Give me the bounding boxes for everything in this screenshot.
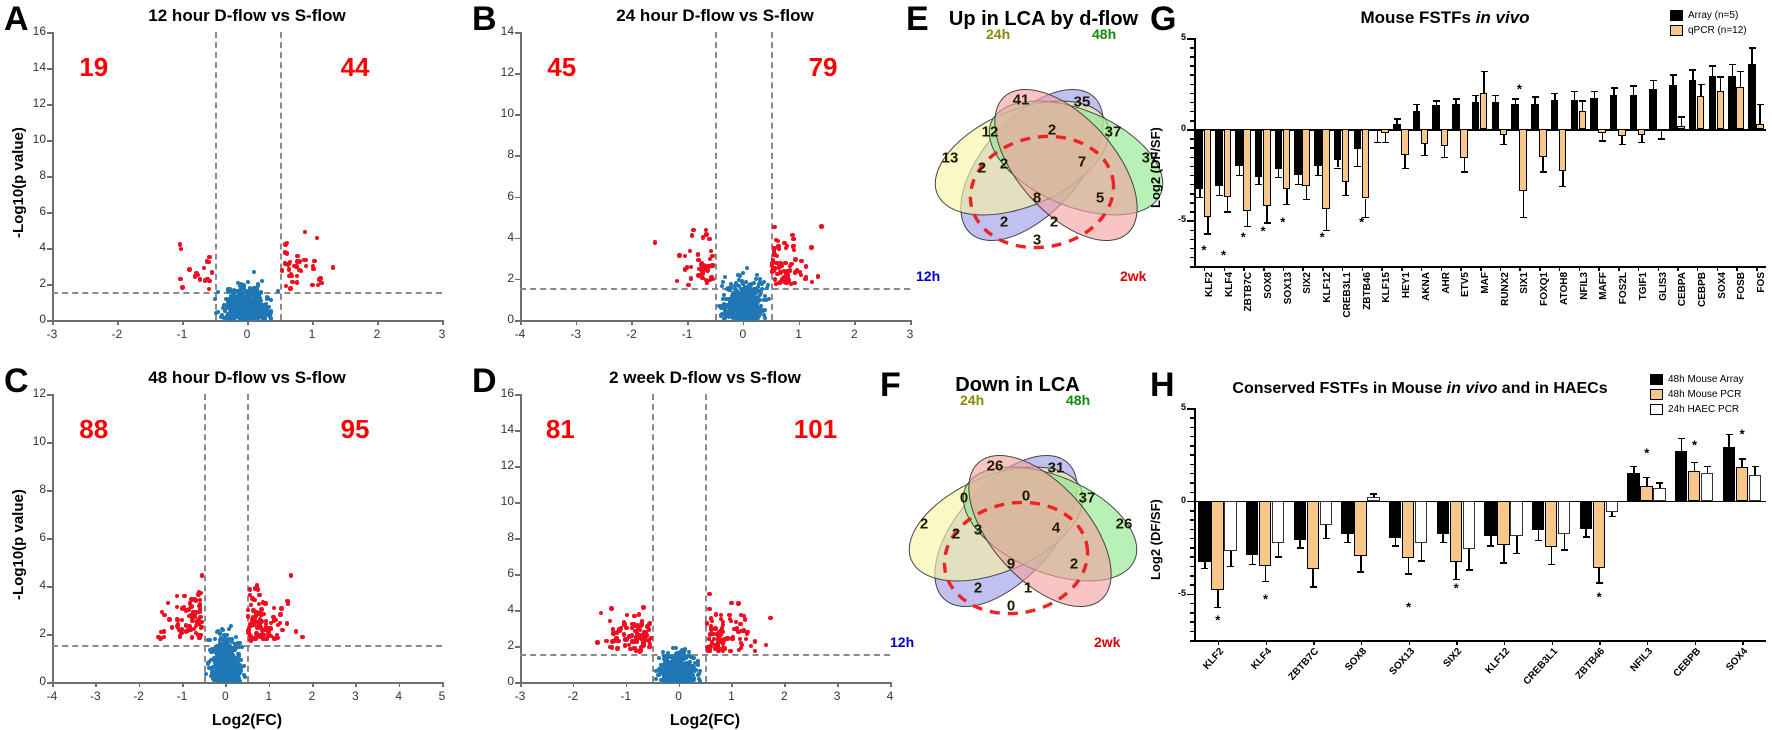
x-tick bbox=[1401, 266, 1403, 271]
p-threshold-line bbox=[520, 288, 910, 290]
x-tick bbox=[139, 682, 141, 687]
figure-root: A12 hour D-flow vs S-flow-3-2-1012302468… bbox=[0, 0, 1772, 730]
x-tick bbox=[1361, 640, 1363, 645]
data-point-significant bbox=[297, 259, 301, 263]
significance-asterisk: * bbox=[1454, 582, 1459, 595]
error-bar-cap bbox=[1709, 65, 1716, 67]
data-point-significant bbox=[278, 612, 282, 616]
error-bar bbox=[1365, 199, 1367, 217]
error-bar bbox=[1252, 555, 1254, 564]
x-tick-label: 1 bbox=[715, 689, 747, 703]
x-tick bbox=[1677, 266, 1679, 271]
right-count-label: 95 bbox=[341, 414, 370, 445]
gene-label-zbtb46: ZBTB46 bbox=[1574, 646, 1607, 681]
x-tick bbox=[799, 320, 801, 325]
error-bar-cap bbox=[1500, 562, 1507, 564]
x-tick bbox=[442, 320, 444, 325]
error-bar-cap bbox=[1402, 168, 1409, 170]
error-bar bbox=[1286, 189, 1288, 204]
y-axis-line bbox=[1194, 408, 1196, 640]
data-point-significant bbox=[689, 276, 693, 280]
data-point-significant bbox=[719, 613, 723, 617]
bar-atoh8-1 bbox=[1559, 129, 1566, 171]
venn-count-12h_2wk: 0 bbox=[1007, 598, 1015, 615]
error-bar-cap bbox=[1500, 144, 1507, 146]
y-tick-label: 12 bbox=[486, 65, 514, 79]
error-bar bbox=[1442, 534, 1444, 541]
data-point-significant bbox=[792, 281, 796, 285]
bar-zbtb7c-1 bbox=[1307, 501, 1319, 570]
data-point-significant bbox=[707, 607, 711, 611]
data-point-significant bbox=[207, 287, 211, 291]
data-point-significant bbox=[791, 237, 795, 241]
data-point-significant bbox=[252, 598, 256, 602]
y-tick bbox=[47, 68, 52, 70]
data-point-significant bbox=[723, 646, 727, 650]
error-bar-cap bbox=[1466, 569, 1473, 571]
data-point-significant bbox=[643, 637, 647, 641]
data-point-nonsignificant bbox=[269, 298, 273, 302]
data-point-nonsignificant bbox=[226, 287, 230, 291]
bar-klf12-1 bbox=[1497, 501, 1509, 546]
data-point-significant bbox=[770, 263, 774, 267]
error-bar-cap bbox=[1481, 71, 1488, 73]
error-bar-cap bbox=[1370, 493, 1377, 495]
error-bar bbox=[1542, 157, 1544, 172]
data-point-significant bbox=[744, 637, 748, 641]
y-tick-label: 4 bbox=[486, 602, 514, 616]
error-bar-cap bbox=[1656, 482, 1663, 484]
x-tick bbox=[1742, 640, 1744, 645]
y-tick bbox=[515, 279, 520, 281]
error-bar-cap bbox=[1532, 96, 1539, 98]
data-point-significant bbox=[279, 606, 283, 610]
bar-cebpb-0 bbox=[1689, 80, 1696, 129]
bar-six2-0 bbox=[1294, 129, 1301, 175]
data-point-nonsignificant bbox=[256, 284, 260, 288]
volcano-plot-area: -4-3-2-10123024681012144579 bbox=[520, 32, 910, 320]
y-tick bbox=[47, 538, 52, 540]
error-bar bbox=[1227, 197, 1229, 212]
error-bar-cap bbox=[1310, 586, 1317, 588]
data-point-significant bbox=[743, 617, 747, 621]
data-point-significant bbox=[753, 649, 757, 653]
bar-six1-1 bbox=[1519, 129, 1526, 191]
gene-label-atoh8: ATOH8 bbox=[1559, 272, 1570, 305]
error-bar bbox=[1468, 549, 1470, 569]
data-point-significant bbox=[247, 627, 251, 631]
error-bar bbox=[1298, 175, 1300, 184]
data-point-significant bbox=[709, 249, 713, 253]
y-axis-label: Log2 (DF/SF) bbox=[1148, 499, 1163, 580]
venn-title: Down in LCA bbox=[880, 374, 1155, 397]
venn-count-12h_48h_2wk: 2 bbox=[1000, 214, 1008, 231]
error-bar-cap bbox=[1315, 175, 1322, 177]
data-point-significant bbox=[175, 594, 179, 598]
y-tick-label: 2 bbox=[486, 638, 514, 652]
legend-label-2: 24h HAEC PCR bbox=[1668, 404, 1739, 415]
y-tick bbox=[515, 155, 520, 157]
venn-set-label-12h: 12h bbox=[890, 634, 914, 650]
x-axis-line bbox=[520, 682, 890, 684]
bar-nfil3-1 bbox=[1640, 486, 1652, 501]
data-point-significant bbox=[609, 606, 613, 610]
x-tick-label: 4 bbox=[383, 689, 415, 703]
bar-klf12-1 bbox=[1322, 129, 1329, 209]
data-point-nonsignificant bbox=[220, 313, 224, 317]
x-tick-label: 3 bbox=[821, 689, 853, 703]
error-bar-cap bbox=[1599, 140, 1606, 142]
data-point-nonsignificant bbox=[741, 298, 745, 302]
gene-label-tgif1: TGIF1 bbox=[1638, 272, 1649, 300]
significance-asterisk: * bbox=[1263, 593, 1268, 606]
x-tick bbox=[1618, 266, 1620, 271]
x-tick-label: -3 bbox=[504, 689, 536, 703]
data-point-significant bbox=[198, 635, 202, 639]
x-tick-label: 3 bbox=[339, 689, 371, 703]
bar-zbtb7c-1 bbox=[1243, 129, 1250, 211]
error-bar bbox=[1345, 182, 1347, 195]
data-point-nonsignificant bbox=[230, 665, 234, 669]
error-bar bbox=[1490, 536, 1492, 545]
data-point-nonsignificant bbox=[666, 677, 670, 681]
bar-creb3l1-2 bbox=[1558, 501, 1570, 534]
x-tick bbox=[312, 320, 314, 325]
data-point-significant bbox=[777, 246, 781, 250]
y-tick-label: -5 bbox=[1164, 588, 1186, 598]
gene-label-klf15: KLF15 bbox=[1381, 272, 1392, 303]
data-point-significant bbox=[189, 604, 193, 608]
data-point-significant bbox=[180, 618, 184, 622]
data-point-significant bbox=[641, 605, 645, 609]
right-count-label: 79 bbox=[809, 52, 838, 83]
data-point-significant bbox=[599, 611, 603, 615]
bar-glis3-0 bbox=[1649, 89, 1656, 129]
gene-label-foxq1: FOXQ1 bbox=[1539, 272, 1550, 306]
error-bar-cap bbox=[1749, 47, 1756, 49]
data-point-nonsignificant bbox=[760, 309, 764, 313]
y-tick-minor bbox=[1190, 575, 1194, 577]
error-bar bbox=[1265, 566, 1267, 581]
bar-sox4-2 bbox=[1749, 475, 1761, 501]
venn-count-48h_only: 35 bbox=[1074, 94, 1091, 111]
data-point-nonsignificant bbox=[683, 647, 687, 651]
data-point-nonsignificant bbox=[216, 662, 220, 666]
error-bar-cap bbox=[1255, 184, 1262, 186]
data-point-significant bbox=[707, 592, 711, 596]
bar-plot-area: 50-5******** bbox=[1194, 38, 1766, 266]
data-point-significant bbox=[283, 250, 287, 254]
bar-klf4-1 bbox=[1259, 501, 1271, 566]
data-point-significant bbox=[622, 632, 626, 636]
y-axis-line bbox=[520, 32, 522, 320]
data-point-significant bbox=[256, 587, 260, 591]
right-count-label: 44 bbox=[341, 52, 370, 83]
gene-label-cebpb: CEBPB bbox=[1697, 272, 1708, 307]
bar-cebpb-2 bbox=[1701, 473, 1713, 501]
data-point-significant bbox=[272, 606, 276, 610]
y-tick-major bbox=[1187, 220, 1194, 222]
error-bar bbox=[1278, 543, 1280, 556]
x-tick bbox=[182, 682, 184, 687]
plot-title: 12 hour D-flow vs S-flow bbox=[52, 6, 442, 26]
y-tick-minor bbox=[1190, 248, 1194, 250]
bar-zbtb46-1 bbox=[1362, 129, 1369, 198]
data-point-significant bbox=[202, 266, 206, 270]
data-point-significant bbox=[190, 635, 194, 639]
bar-zbtb7c-2 bbox=[1320, 501, 1332, 525]
x-tick bbox=[1313, 640, 1315, 645]
bar-foxq1-1 bbox=[1539, 129, 1546, 156]
x-tick bbox=[1224, 266, 1226, 271]
data-point-significant bbox=[260, 627, 264, 631]
error-bar bbox=[1444, 146, 1446, 157]
data-point-nonsignificant bbox=[213, 297, 217, 301]
error-bar-cap bbox=[1392, 545, 1399, 547]
y-tick-minor bbox=[1190, 111, 1194, 113]
error-bar bbox=[1217, 590, 1219, 607]
fc-threshold-line bbox=[280, 32, 282, 320]
data-point-nonsignificant bbox=[755, 306, 759, 310]
bar-zbtb46-2 bbox=[1606, 501, 1618, 512]
data-point-nonsignificant bbox=[241, 307, 245, 311]
y-tick-label: 8 bbox=[486, 530, 514, 544]
left-count-label: 81 bbox=[546, 414, 575, 445]
error-bar bbox=[1258, 177, 1260, 184]
error-bar-cap bbox=[1297, 547, 1304, 549]
error-bar-cap bbox=[1201, 568, 1208, 570]
x-tick bbox=[1697, 266, 1699, 271]
data-point-nonsignificant bbox=[696, 659, 700, 663]
x-tick-label: 0 bbox=[209, 689, 241, 703]
y-tick-label: 14 bbox=[486, 422, 514, 436]
data-point-significant bbox=[729, 601, 733, 605]
data-point-nonsignificant bbox=[234, 635, 238, 639]
error-bar bbox=[1523, 191, 1525, 217]
y-tick-label: 0 bbox=[486, 312, 514, 326]
bar-maff-0 bbox=[1590, 98, 1597, 129]
error-bar bbox=[1503, 135, 1505, 144]
panel-d: D2 week D-flow vs S-flow-3-2-10123402468… bbox=[472, 368, 902, 720]
data-point-significant bbox=[198, 277, 202, 281]
data-point-significant bbox=[708, 644, 712, 648]
data-point-significant bbox=[714, 612, 718, 616]
data-point-nonsignificant bbox=[246, 280, 250, 284]
data-point-significant bbox=[700, 271, 704, 275]
y-tick-major bbox=[1187, 38, 1194, 40]
panel-a: A12 hour D-flow vs S-flow-3-2-1012302468… bbox=[4, 6, 464, 356]
data-point-nonsignificant bbox=[721, 280, 725, 284]
bar-sox8-1 bbox=[1263, 129, 1270, 206]
data-point-significant bbox=[809, 245, 813, 249]
bar-klf2-2 bbox=[1224, 501, 1236, 551]
y-tick-minor bbox=[1190, 621, 1194, 623]
data-point-significant bbox=[280, 268, 284, 272]
y-tick bbox=[515, 197, 520, 199]
error-bar bbox=[1602, 133, 1604, 140]
chart-title-text: Mouse FSTFs bbox=[1360, 8, 1475, 27]
data-point-significant bbox=[608, 619, 612, 623]
bar-akna-0 bbox=[1413, 111, 1420, 129]
error-bar-cap bbox=[1418, 560, 1425, 562]
error-bar-cap bbox=[1571, 91, 1578, 93]
x-axis-label: Log2(FC) bbox=[52, 712, 442, 730]
x-tick-label: -1 bbox=[610, 689, 642, 703]
right-count-label: 101 bbox=[794, 414, 837, 445]
significance-asterisk: * bbox=[1280, 216, 1285, 229]
plot-title: 24 hour D-flow vs S-flow bbox=[520, 6, 910, 26]
data-point-significant bbox=[773, 277, 777, 281]
error-bar-cap bbox=[1670, 74, 1677, 76]
error-bar bbox=[1641, 135, 1643, 142]
bar-sox13-1 bbox=[1402, 501, 1414, 559]
data-point-significant bbox=[677, 253, 681, 257]
data-point-nonsignificant bbox=[760, 287, 764, 291]
venn-count-48h_2wk: 37 bbox=[1079, 490, 1096, 507]
bar-fos2l-1 bbox=[1618, 129, 1625, 136]
y-tick-minor bbox=[1190, 120, 1194, 122]
data-point-significant bbox=[295, 254, 299, 258]
data-point-nonsignificant bbox=[210, 650, 214, 654]
y-tick bbox=[47, 320, 52, 322]
error-bar bbox=[1728, 434, 1730, 447]
gene-label-sox13: SOX13 bbox=[1283, 272, 1294, 304]
bar-hey1-1 bbox=[1401, 129, 1408, 155]
error-bar-cap bbox=[1204, 233, 1211, 235]
data-point-significant bbox=[178, 634, 182, 638]
bar-klf4-2 bbox=[1272, 501, 1284, 544]
data-point-significant bbox=[317, 277, 321, 281]
venn-count-24h_48h_2wk: 4 bbox=[1052, 520, 1060, 537]
bar-six2-1 bbox=[1302, 129, 1309, 186]
gene-label-ahr: AHR bbox=[1441, 272, 1452, 294]
data-point-significant bbox=[184, 629, 188, 633]
y-tick bbox=[47, 634, 52, 636]
bar-nfil3-2 bbox=[1653, 488, 1665, 501]
x-tick-label: 1 bbox=[783, 327, 815, 341]
data-point-significant bbox=[799, 259, 803, 263]
data-point-significant bbox=[207, 255, 211, 259]
gene-label-creb3l1: CREB3L1 bbox=[1521, 646, 1560, 687]
x-tick bbox=[687, 320, 689, 325]
bar-ahr-1 bbox=[1441, 129, 1448, 145]
data-point-significant bbox=[645, 624, 649, 628]
legend-label-0: 48h Mouse Array bbox=[1668, 374, 1744, 385]
data-point-significant bbox=[728, 617, 732, 621]
panel-h: HConserved FSTFs in Mouse in vivo and in… bbox=[1150, 368, 1772, 730]
bar-cebpb-1 bbox=[1697, 96, 1704, 129]
bar-creb3l1-0 bbox=[1532, 501, 1544, 531]
error-bar-cap bbox=[1551, 93, 1558, 95]
data-point-nonsignificant bbox=[674, 646, 678, 650]
data-point-significant bbox=[709, 616, 713, 620]
data-point-significant bbox=[159, 630, 163, 634]
significance-asterisk: * bbox=[1644, 446, 1649, 459]
x-tick bbox=[442, 682, 444, 687]
error-bar bbox=[1732, 64, 1734, 77]
error-bar bbox=[1299, 540, 1301, 547]
data-point-significant bbox=[608, 645, 612, 649]
y-tick bbox=[515, 114, 520, 116]
venn-count-12h_48h: 2 bbox=[952, 526, 960, 543]
venn-count-24h_48h_2wk: 7 bbox=[1078, 154, 1086, 171]
data-point-significant bbox=[295, 280, 299, 284]
data-point-significant bbox=[198, 608, 202, 612]
x-tick bbox=[1322, 266, 1324, 271]
data-point-significant bbox=[303, 230, 307, 234]
venn-count-48h_2wk_inner: 2 bbox=[1070, 556, 1078, 573]
error-bar-cap bbox=[1453, 98, 1460, 100]
data-point-significant bbox=[175, 617, 179, 621]
y-tick-minor bbox=[1190, 492, 1194, 494]
data-point-significant bbox=[789, 282, 793, 286]
x-tick bbox=[520, 320, 522, 325]
y-tick-minor bbox=[1190, 175, 1194, 177]
error-bar-cap bbox=[1643, 477, 1650, 479]
y-axis-line bbox=[52, 32, 54, 320]
data-point-nonsignificant bbox=[723, 275, 727, 279]
data-point-significant bbox=[253, 637, 257, 641]
x-tick bbox=[1243, 266, 1245, 271]
bar-klf4-0 bbox=[1246, 501, 1258, 555]
y-tick-minor bbox=[1190, 47, 1194, 49]
data-point-significant bbox=[289, 573, 293, 577]
significance-asterisk: * bbox=[1692, 439, 1697, 452]
y-tick-minor bbox=[1190, 482, 1194, 484]
data-point-significant bbox=[737, 648, 741, 652]
y-tick-minor bbox=[1190, 184, 1194, 186]
data-point-nonsignificant bbox=[252, 270, 256, 274]
bar-klf2-0 bbox=[1198, 501, 1210, 562]
data-point-significant bbox=[610, 639, 614, 643]
y-tick-label: 0 bbox=[1164, 123, 1186, 133]
data-point-significant bbox=[182, 594, 186, 598]
bar-klf2-1 bbox=[1204, 129, 1211, 217]
chart-title-italic: in vivo bbox=[1476, 8, 1530, 27]
y-tick-major bbox=[1187, 501, 1194, 503]
y-tick-label: 12 bbox=[486, 458, 514, 472]
x-tick bbox=[837, 682, 839, 687]
data-point-significant bbox=[774, 261, 778, 265]
error-bar bbox=[1357, 149, 1359, 165]
error-bar-cap bbox=[1487, 545, 1494, 547]
data-point-significant bbox=[595, 640, 599, 644]
gene-label-cebpb: CEBPB bbox=[1671, 646, 1703, 679]
y-axis-line bbox=[52, 394, 54, 682]
data-point-significant bbox=[268, 626, 272, 630]
significance-asterisk: * bbox=[1320, 230, 1325, 243]
data-point-significant bbox=[736, 601, 740, 605]
data-point-significant bbox=[248, 587, 252, 591]
data-point-significant bbox=[285, 599, 289, 603]
error-bar-cap bbox=[1405, 573, 1412, 575]
y-tick-minor bbox=[1190, 612, 1194, 614]
x-tick-label: 2 bbox=[361, 327, 393, 341]
error-bar-cap bbox=[1717, 76, 1724, 78]
bar-klf4-0 bbox=[1215, 129, 1222, 186]
data-point-nonsignificant bbox=[747, 313, 751, 317]
y-tick-minor bbox=[1190, 519, 1194, 521]
data-point-significant bbox=[630, 640, 634, 644]
bar-plot-area: 50-5******** bbox=[1194, 408, 1766, 640]
data-point-significant bbox=[690, 233, 694, 237]
data-point-significant bbox=[198, 603, 202, 607]
data-point-nonsignificant bbox=[232, 656, 236, 660]
x-axis-line bbox=[52, 682, 442, 684]
chart-title: Conserved FSTFs in Mouse in vivo and in … bbox=[1160, 380, 1680, 398]
data-point-significant bbox=[739, 629, 743, 633]
gene-label-sox8: SOX8 bbox=[1263, 272, 1274, 299]
